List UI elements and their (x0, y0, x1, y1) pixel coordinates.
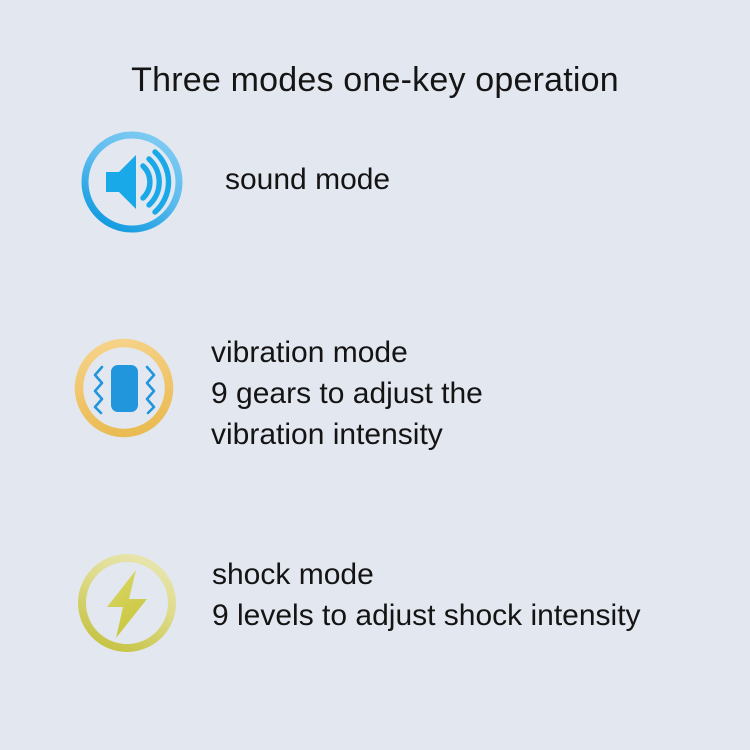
mode-label-shock: shock mode (212, 554, 641, 595)
mode-row-sound: sound mode (0, 128, 390, 236)
mode-label-vibration: vibration mode (211, 332, 483, 373)
lightning-bolt-shock-icon (74, 550, 180, 656)
mode-text-sound: sound mode (225, 159, 390, 200)
mode-row-shock: shock mode 9 levels to adjust shock inte… (0, 550, 641, 656)
mode-label-sound: sound mode (225, 159, 390, 200)
mode-detail-vibration-1: 9 gears to adjust the (211, 373, 483, 414)
speaker-sound-icon (78, 128, 186, 236)
mode-text-vibration: vibration mode 9 gears to adjust the vib… (211, 332, 483, 455)
mode-text-shock: shock mode 9 levels to adjust shock inte… (212, 554, 641, 636)
promo-infographic: Three modes one-key operation (0, 0, 750, 750)
phone-vibration-icon (72, 336, 176, 440)
mode-detail-shock-1: 9 levels to adjust shock intensity (212, 595, 641, 636)
page-title: Three modes one-key operation (0, 58, 750, 102)
mode-detail-vibration-2: vibration intensity (211, 414, 483, 455)
mode-row-vibration: vibration mode 9 gears to adjust the vib… (0, 336, 483, 455)
